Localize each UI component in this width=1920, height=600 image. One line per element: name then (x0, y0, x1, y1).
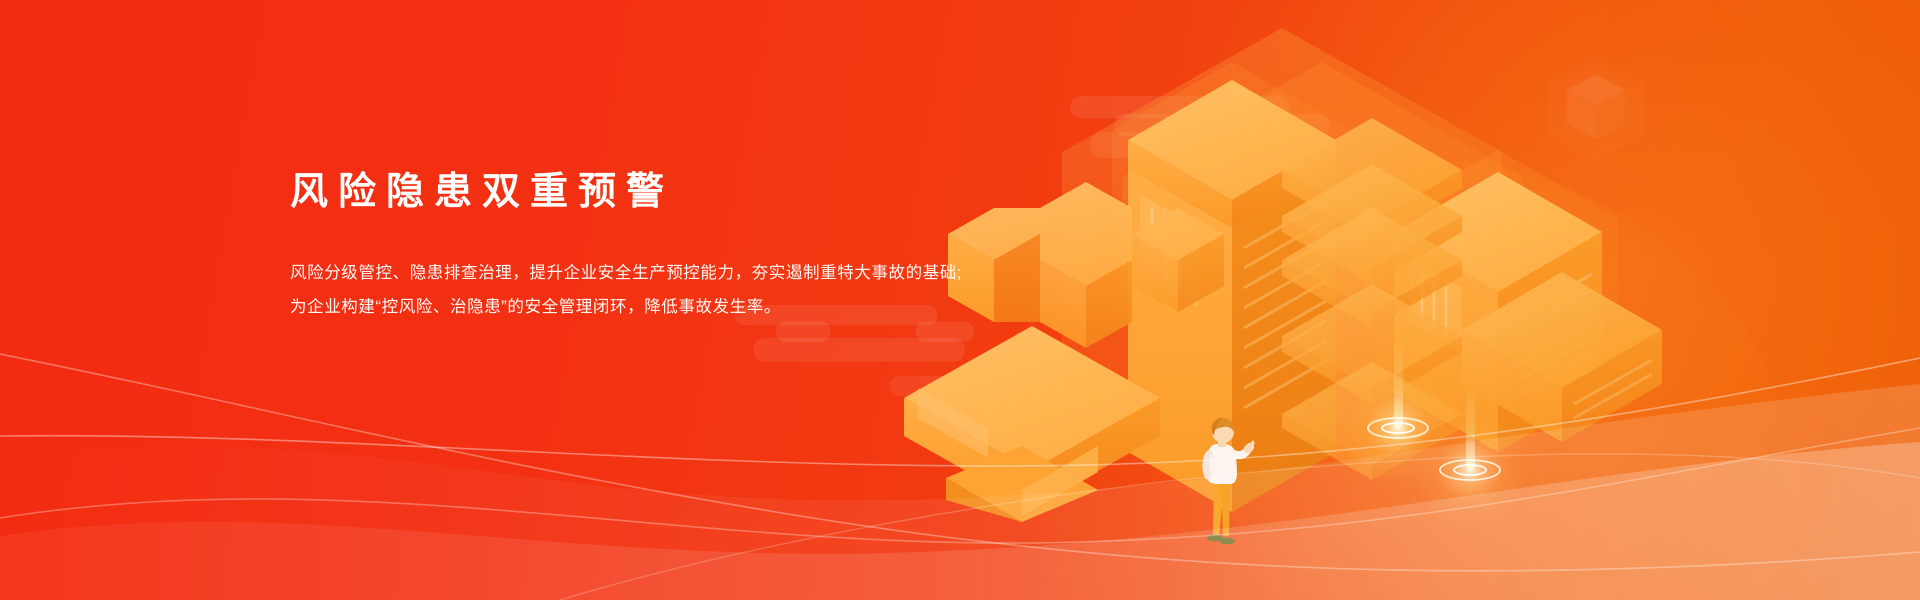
banner-subtitle: 风险分级管控、隐患排查治理，提升企业安全生产预控能力，夯实遏制重特大事故的基础;… (290, 256, 1050, 324)
hero-banner: 风险隐患双重预警 风险分级管控、隐患排查治理，提升企业安全生产预控能力，夯实遏制… (0, 0, 1920, 600)
subtitle-line-1: 风险分级管控、隐患排查治理，提升企业安全生产预控能力，夯实遏制重特大事故的基础; (290, 256, 1050, 290)
subtitle-line-2: 为企业构建“控风险、治隐患”的安全管理闭环，降低事故发生率。 (290, 290, 1050, 324)
banner-copy: 风险隐患双重预警 风险分级管控、隐患排查治理，提升企业安全生产预控能力，夯实遏制… (290, 170, 1050, 324)
wave-ribbon-decoration (0, 340, 1920, 600)
page-title: 风险隐患双重预警 (290, 170, 1050, 216)
